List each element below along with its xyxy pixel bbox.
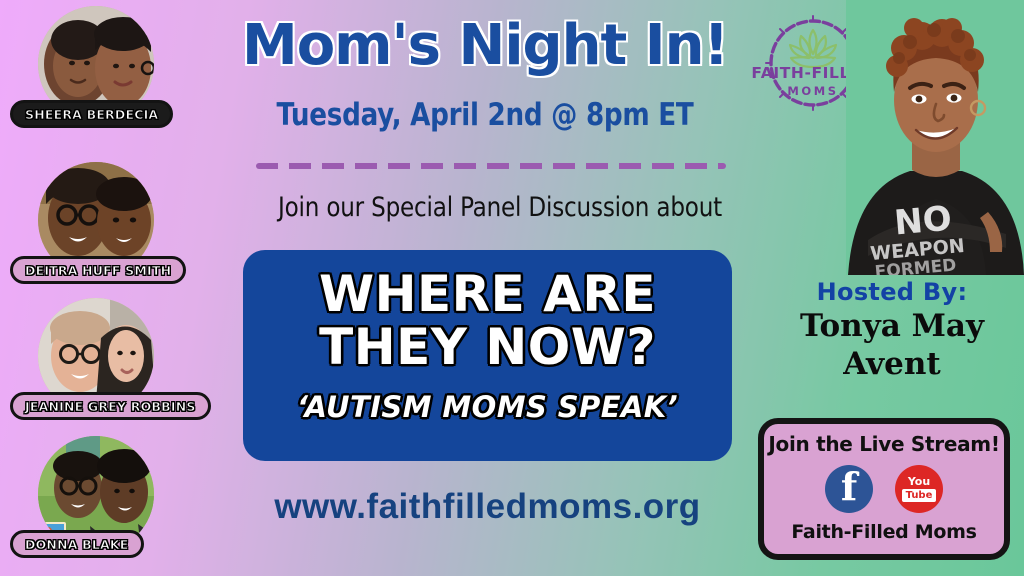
topic-title-line1: WHERE ARE: [243, 268, 732, 321]
social-links-row: f You Tube: [764, 465, 1004, 513]
panelist-name-badge: SHEERA BERDECIA: [10, 100, 173, 128]
hosted-by-label: Hosted By:: [760, 278, 1024, 306]
panel-subhead: Join our Special Panel Discussion about: [215, 192, 785, 223]
live-stream-title: Join the Live Stream!: [764, 432, 1004, 456]
host-name-line2: Avent: [760, 346, 1024, 384]
facebook-glyph: f: [825, 465, 873, 513]
youtube-icon[interactable]: You Tube: [895, 465, 943, 513]
page-title: Mom's Night In!: [230, 18, 740, 74]
host-photo: NO WEAPON FORMED: [846, 0, 1024, 275]
list-item[interactable]: JEANINE GREY ROBBINS: [10, 296, 210, 440]
topic-title: WHERE ARE THEY NOW?: [243, 268, 732, 374]
list-item[interactable]: SHEERA BERDECIA: [10, 4, 210, 148]
host-name: Tonya May Avent: [760, 308, 1024, 384]
list-item[interactable]: DEITRA HUFF SMITH: [10, 160, 210, 304]
live-stream-handle: Faith-Filled Moms: [764, 521, 1004, 543]
host-name-line1: Tonya May: [760, 308, 1024, 346]
panelist-name-badge: JEANINE GREY ROBBINS: [10, 392, 211, 420]
panelist-list: SHEERA BERDECIA DE: [0, 0, 215, 576]
topic-title-line2: THEY NOW?: [243, 321, 732, 374]
panelist-name-badge: DEITRA HUFF SMITH: [10, 256, 186, 284]
youtube-you-text: You: [908, 476, 930, 487]
event-date: Tuesday, April 2nd @ 8pm ET: [245, 97, 724, 133]
dashed-divider: [256, 163, 726, 169]
live-stream-box: Join the Live Stream! f You Tube Faith-F…: [758, 418, 1010, 560]
facebook-icon[interactable]: f: [825, 465, 873, 513]
youtube-tube-text: Tube: [902, 489, 937, 502]
topic-callout-box: WHERE ARE THEY NOW? ‘AUTISM MOMS SPEAK’: [243, 250, 732, 461]
website-url[interactable]: www.faithfilledmoms.org: [243, 487, 732, 527]
logo-brand-line2: MOMS: [787, 84, 838, 98]
list-item[interactable]: DONNA BLAKE: [10, 434, 210, 576]
panelist-name-badge: DONNA BLAKE: [10, 530, 144, 558]
topic-subtitle: ‘AUTISM MOMS SPEAK’: [243, 390, 732, 424]
